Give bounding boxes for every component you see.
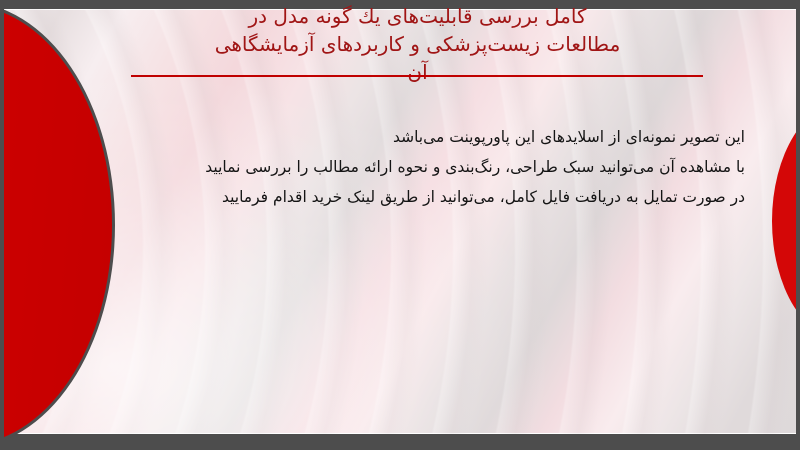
title-line-1: کامل بررسی قابلیت‌های یك گونه مدل در	[130, 2, 705, 30]
body-line-2: با مشاهده آن می‌توانید سبک طراحی، رنگ‌بن…	[55, 152, 745, 182]
body-line-1: این تصویر نمونه‌ای از اسلایدهای این پاور…	[55, 122, 745, 152]
slide-title: کامل بررسی قابلیت‌های یك گونه مدل در مطا…	[130, 2, 705, 86]
title-line-3: آن	[130, 58, 705, 86]
body-line-3: در صورت تمایل به دریافت فایل کامل، می‌تو…	[55, 182, 745, 212]
slide-body-text: این تصویر نمونه‌ای از اسلایدهای این پاور…	[55, 122, 745, 212]
title-underline-rule	[131, 75, 703, 77]
title-line-2: مطالعات زیست‌پزشکی و کاربردهای آزمایشگاه…	[130, 30, 705, 58]
slide-canvas: کامل بررسی قابلیت‌های یك گونه مدل در مطا…	[0, 0, 800, 450]
slide-content: کامل بررسی قابلیت‌های یك گونه مدل در مطا…	[0, 0, 800, 450]
